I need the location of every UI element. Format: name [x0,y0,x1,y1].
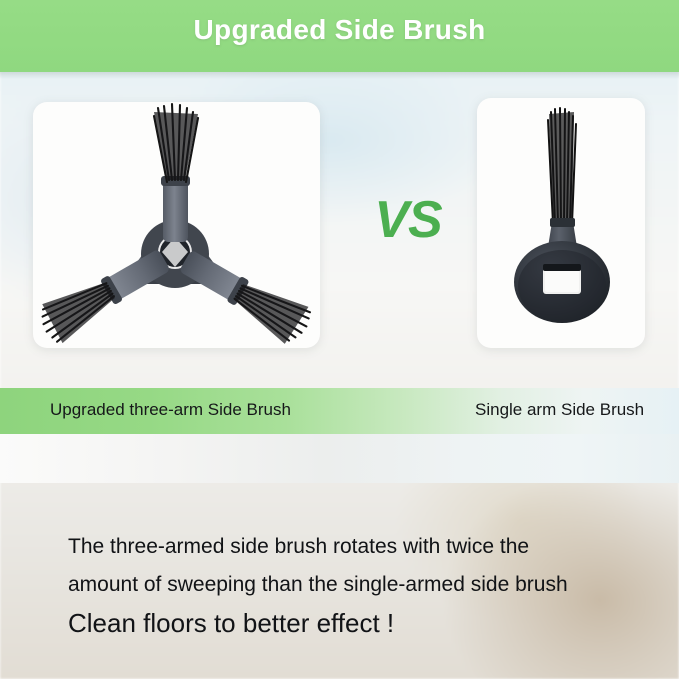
brush-arm-right [34,240,176,347]
divider-band [0,434,679,483]
footer-text-line-3: Clean floors to better effect ! [68,608,394,639]
footer-text-line-2: amount of sweeping than the single-armed… [68,573,568,597]
single-arm-side-brush-image [477,98,645,348]
infographic-page: Upgraded Side Brush [0,0,679,679]
page-title: Upgraded Side Brush [0,14,679,46]
vs-label: VS [358,190,458,250]
brush-arm-left [174,242,316,348]
footer-text-line-1: The three-armed side brush rotates with … [68,535,529,559]
three-arm-side-brush-image [33,102,320,348]
header-shadow [0,72,679,79]
brush-arm-top [154,104,198,242]
caption-right-product: Single arm Side Brush [475,400,644,420]
brush-disc-hub [514,241,610,323]
caption-left-product: Upgraded three-arm Side Brush [50,400,291,420]
